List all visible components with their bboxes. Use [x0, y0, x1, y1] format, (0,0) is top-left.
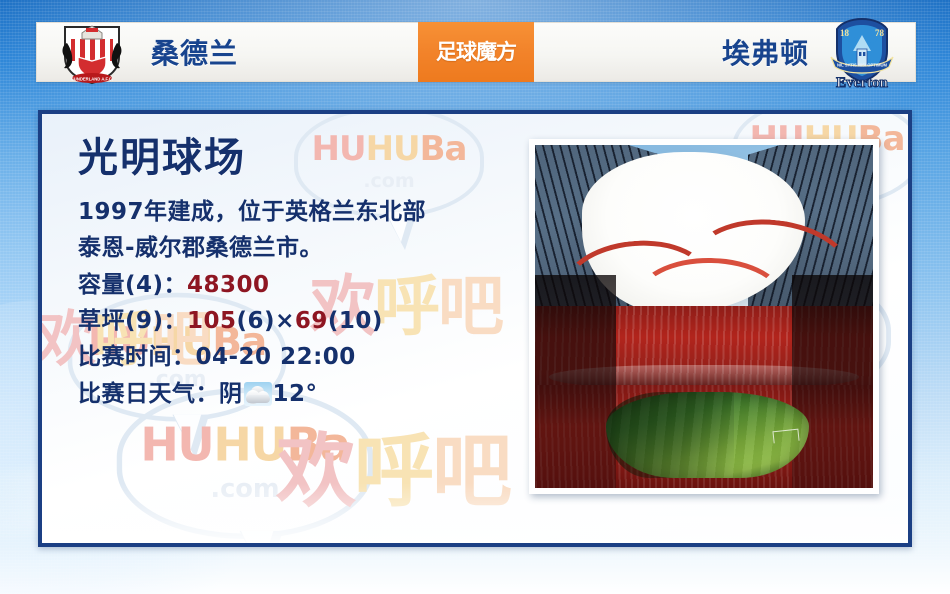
weather-row: 比赛日天气：阴12°	[78, 376, 498, 412]
crest-year-right: 78	[875, 28, 885, 38]
stadium-description-line-2: 泰恩-威尔郡桑德兰市。	[78, 230, 498, 266]
home-team-name: 桑德兰	[151, 32, 238, 72]
watermark-cn-bottom: 欢呼吧	[276, 432, 510, 512]
svg-text:NIL SATIS NISI OPTIMUM: NIL SATIS NISI OPTIMUM	[837, 62, 888, 67]
svg-text:SUNDERLAND A.F.C.: SUNDERLAND A.F.C.	[71, 76, 113, 81]
pitch-width-value: 69	[295, 308, 328, 334]
photo-pitch-shadow	[606, 392, 734, 478]
weather-label: 比赛日天气：	[78, 381, 219, 407]
pitch-row: 草坪(9)：105(6)×69(10)	[78, 303, 498, 339]
capacity-value: 48300	[187, 272, 270, 298]
match-time-value: 04-20 22:00	[196, 344, 356, 370]
watermark-domain-5: .com	[210, 474, 279, 504]
capacity-label: 容量(4)：	[78, 272, 187, 298]
svg-text:Everton: Everton	[836, 75, 888, 91]
watermark-brand-latin-5: HUHUBa	[140, 423, 349, 469]
crest-year-left: 18	[840, 28, 850, 38]
away-team-block[interactable]: 埃弗顿 18 78 NIL SATIS NISI OPTI	[534, 13, 915, 91]
pitch-length-value: 105	[187, 308, 237, 334]
stadium-info-page: SUNDERLAND A.F.C. 桑德兰 足球魔方 埃弗顿	[0, 0, 950, 594]
cloudy-icon	[244, 382, 272, 406]
weather-condition: 阴	[219, 381, 243, 407]
site-logo[interactable]: 足球魔方	[418, 22, 534, 82]
home-team-block[interactable]: SUNDERLAND A.F.C. 桑德兰	[37, 19, 418, 85]
pitch-label: 草坪(9)：	[78, 308, 187, 334]
capacity-row: 容量(4)：48300	[78, 267, 498, 303]
photo-shadow-left	[535, 275, 616, 488]
stadium-description-line-1: 1997年建成，位于英格兰东北部	[78, 194, 498, 230]
match-header-bar: SUNDERLAND A.F.C. 桑德兰 足球魔方 埃弗顿	[36, 22, 916, 82]
pitch-separator: ×	[275, 308, 295, 334]
pitch-width-rank: (10)	[328, 308, 383, 334]
sunderland-crest-icon: SUNDERLAND A.F.C.	[57, 19, 127, 85]
stadium-photo	[535, 145, 873, 488]
stadium-photo-frame[interactable]	[529, 139, 879, 494]
site-logo-text: 足球魔方	[436, 42, 516, 63]
everton-crest-icon: 18 78 NIL SATIS NISI OPTIMUM Everton	[823, 13, 901, 91]
stadium-title: 光明球场	[78, 136, 498, 180]
pitch-length-rank: (6)	[237, 308, 276, 334]
photo-shadow-right	[792, 275, 873, 488]
match-time-row: 比赛时间：04-20 22:00	[78, 339, 498, 375]
stadium-info-card: HUHUBa .com HUHUBa .com 欢呼吧 HUHUBa .com	[38, 110, 912, 547]
match-time-label: 比赛时间：	[78, 344, 196, 370]
away-team-name: 埃弗顿	[722, 32, 809, 72]
weather-temperature: 12°	[273, 381, 318, 407]
stadium-info-text: 光明球场 1997年建成，位于英格兰东北部 泰恩-威尔郡桑德兰市。 容量(4)：…	[78, 136, 498, 412]
photo-goal	[772, 428, 799, 443]
